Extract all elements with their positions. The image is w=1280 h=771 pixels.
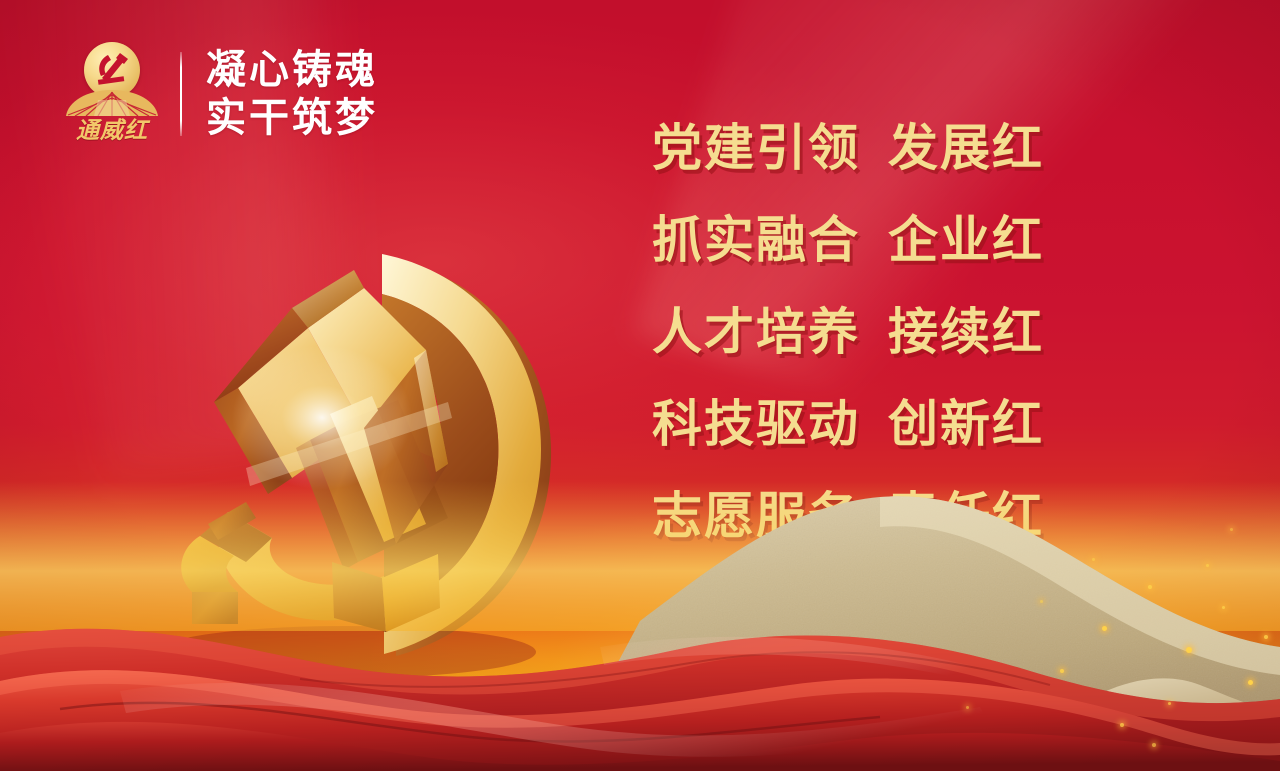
slogan-right: 发展红 bbox=[888, 108, 1044, 180]
poster-canvas: 通威红 凝心铸魂 实干筑梦 bbox=[0, 0, 1280, 771]
logo-calligraphy: 通威红 bbox=[68, 116, 156, 146]
brand-title-line-1: 凝心铸魂 bbox=[206, 46, 378, 94]
brand-title: 凝心铸魂 实干筑梦 bbox=[206, 46, 378, 142]
logo-mark: 通威红 bbox=[64, 40, 160, 148]
brand-title-line-2: 实干筑梦 bbox=[206, 94, 378, 142]
slogan-right: 接续红 bbox=[888, 292, 1044, 364]
slogan-row: 人才培养 接续红 bbox=[652, 292, 1082, 384]
brand-logo-block: 通威红 凝心铸魂 实干筑梦 bbox=[64, 40, 378, 148]
slogan-left: 抓实融合 bbox=[652, 200, 888, 272]
logo-divider bbox=[180, 52, 182, 136]
slogan-right: 企业红 bbox=[888, 200, 1044, 272]
slogan-left: 人才培养 bbox=[652, 292, 888, 364]
foreground-scenery bbox=[0, 441, 1280, 771]
slogan-row: 党建引领 发展红 bbox=[652, 108, 1082, 200]
slogan-row: 抓实融合 企业红 bbox=[652, 200, 1082, 292]
slogan-left: 党建引领 bbox=[652, 108, 888, 180]
